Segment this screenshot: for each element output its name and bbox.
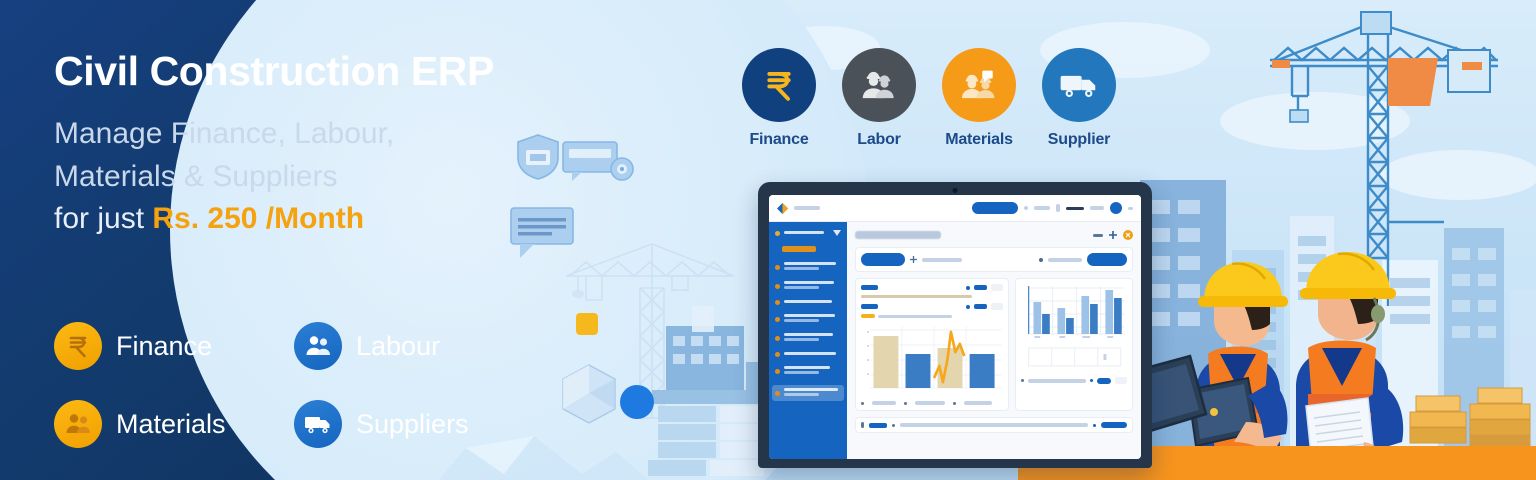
people-icon: [294, 322, 342, 370]
top-icon-label: Finance: [742, 131, 816, 149]
two-construction-workers: [1188, 236, 1456, 480]
chevron-down-icon[interactable]: [1128, 207, 1133, 210]
blue-circle-decor: [620, 385, 654, 419]
rupee-icon: [54, 322, 102, 370]
subtitle-line-1: Manage Finance, Labour,: [54, 113, 614, 156]
nav-item-placeholder[interactable]: [1034, 206, 1050, 210]
primary-chart-card: [855, 278, 1009, 411]
feature-label: Materials: [116, 409, 226, 440]
kpi-row: [861, 284, 1003, 291]
sidebar-item[interactable]: [775, 352, 841, 357]
dashboard-sidebar: [769, 222, 847, 459]
feature-badge-labour[interactable]: Labour: [294, 322, 534, 370]
mini-table: [1021, 345, 1127, 369]
app-logo-icon: [777, 203, 788, 214]
sidebar-item[interactable]: [775, 314, 841, 324]
subtitle-line-3: for just Rs. 250 /Month: [54, 198, 614, 241]
nav-icon-placeholder[interactable]: [1056, 204, 1060, 212]
top-icon-finance[interactable]: Finance: [742, 48, 816, 149]
nav-item-placeholder[interactable]: [1066, 207, 1084, 210]
people-icon: [942, 48, 1016, 122]
webcam-dot: [953, 188, 958, 193]
amber-square-decor: [576, 313, 598, 335]
price-prefix: for just: [54, 202, 152, 235]
feature-label: Suppliers: [356, 409, 469, 440]
rupee-icon: [742, 48, 816, 122]
bar-line-chart: [861, 322, 1003, 392]
sidebar-item[interactable]: [775, 262, 841, 272]
filter-chip-active[interactable]: [861, 253, 905, 266]
people-icon: [842, 48, 916, 122]
app-name-placeholder: [794, 206, 820, 210]
primary-action-button[interactable]: [972, 202, 1018, 214]
bottom-toolbar: [855, 417, 1133, 433]
feature-badge-materials[interactable]: Materials: [54, 400, 294, 448]
collapse-icon[interactable]: [833, 229, 841, 237]
top-icon-materials[interactable]: Materials: [942, 48, 1016, 149]
price-value: Rs. 250 /Month: [152, 202, 364, 235]
sidebar-item[interactable]: [775, 300, 841, 305]
top-icon-row: Finance Labor: [742, 48, 1116, 149]
sidebar-item[interactable]: [775, 333, 841, 343]
add-icon[interactable]: [1109, 231, 1117, 239]
page-title: Civil Construction ERP: [54, 50, 614, 93]
filter-bar: [855, 247, 1133, 272]
top-icon-labor[interactable]: Labor: [842, 48, 916, 149]
grouped-bar-chart: [1021, 284, 1127, 340]
status-dot: [1039, 258, 1043, 262]
dashboard-heading-placeholder: [855, 231, 941, 239]
feature-label: Labour: [356, 331, 440, 362]
top-icon-label: Labor: [842, 131, 916, 149]
dashboard-topbar: [769, 195, 1141, 222]
truck-icon: [1042, 48, 1116, 122]
dashboard-main: [847, 222, 1141, 459]
sidebar-item[interactable]: [775, 281, 841, 291]
top-icon-label: Materials: [942, 131, 1016, 149]
sidebar-brand-row: [775, 229, 841, 237]
truck-icon: [294, 400, 342, 448]
subtitle: Manage Finance, Labour, Materials & Supp…: [54, 113, 614, 241]
subtitle-line-2: Materials & Suppliers: [54, 156, 614, 199]
laptop-mockup: [758, 182, 1152, 468]
feature-label: Finance: [116, 331, 212, 362]
promo-banner: Civil Construction ERP Manage Finance, L…: [0, 0, 1536, 480]
filter-chip[interactable]: [1087, 253, 1127, 266]
erp-dashboard-screen: [769, 195, 1141, 459]
kpi-row: [861, 303, 1003, 310]
copy-block: Civil Construction ERP Manage Finance, L…: [54, 50, 614, 241]
top-icon-supplier[interactable]: Supplier: [1042, 48, 1116, 149]
nav-dot[interactable]: [1024, 206, 1028, 210]
feature-badge-finance[interactable]: Finance: [54, 322, 294, 370]
alert-icon[interactable]: [1123, 230, 1133, 240]
sidebar-section-tag: [782, 246, 816, 252]
feature-badge-list: Finance Labour: [54, 322, 574, 448]
feature-badge-suppliers[interactable]: Suppliers: [294, 400, 534, 448]
filter-label-placeholder[interactable]: [1048, 258, 1082, 262]
sidebar-item[interactable]: [775, 366, 841, 376]
people-icon: [54, 400, 102, 448]
nav-item-placeholder[interactable]: [1090, 206, 1104, 210]
avatar[interactable]: [1110, 202, 1122, 214]
top-icon-label: Supplier: [1042, 131, 1116, 149]
add-filter-icon[interactable]: [910, 256, 917, 263]
toolbar-icon[interactable]: [1093, 234, 1103, 237]
sidebar-item-active[interactable]: [772, 385, 844, 401]
secondary-chart-card: [1015, 278, 1133, 411]
filter-label-placeholder[interactable]: [922, 258, 962, 262]
